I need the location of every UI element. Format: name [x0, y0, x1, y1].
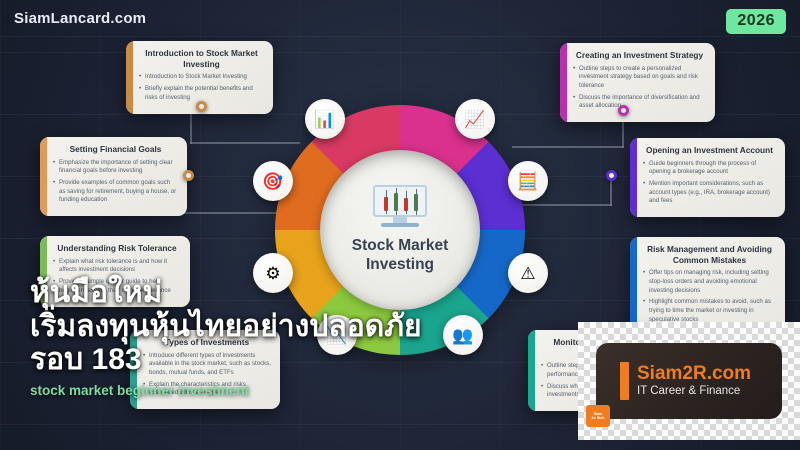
- calculator-analysis-icon: 🧮: [508, 161, 548, 201]
- logo-overlay-panel: Siam2R.com IT Career & Finance Siam2o Ri…: [578, 322, 800, 440]
- siam2r-logo-card: Siam2R.com IT Career & Finance Siam2o Ri…: [596, 343, 782, 419]
- card-accent-bar: [126, 41, 133, 114]
- card-bullet: Briefly explain the potential benefits a…: [139, 85, 264, 102]
- year-badge: 2026: [726, 9, 786, 34]
- card-bullet: Guide beginners through the process of o…: [643, 160, 776, 177]
- bar-chart-growth-icon: 📊: [305, 99, 345, 139]
- headline-line-1: หุ้นมือใหม่: [30, 276, 550, 310]
- headline-line-3: รอบ 183: [30, 343, 550, 377]
- card-bullet-list: Outline steps to create a personalized i…: [573, 65, 706, 111]
- logo-brand-name: Siam2R.com: [637, 364, 751, 384]
- card-bullet: Emphasize the importance of setting clea…: [53, 159, 178, 176]
- info-card-creating-an-investment-strategy[interactable]: Creating an Investment Strategy Outline …: [560, 43, 715, 122]
- info-card-setting-financial-goals[interactable]: Setting Financial Goals Emphasize the im…: [40, 137, 187, 216]
- card-connector-node: [618, 105, 629, 116]
- info-card-risk-management-and-avoiding-common-mistakes[interactable]: Risk Management and Avoiding Common Mist…: [630, 237, 785, 335]
- card-bullet: Outline steps to create a personalized i…: [573, 65, 706, 91]
- card-title: Creating an Investment Strategy: [573, 50, 706, 61]
- card-accent-bar: [40, 137, 47, 216]
- card-bullet-list: Introduction to Stock Market Investing B…: [139, 73, 264, 102]
- wheel-center-title: Stock MarketInvesting: [338, 237, 463, 275]
- card-accent-bar: [630, 237, 637, 335]
- site-name-watermark: SiamLancard.com: [14, 10, 146, 27]
- logo-tagline: IT Career & Finance: [637, 385, 751, 399]
- card-bullet: Highlight common mistakes to avoid, such…: [643, 298, 776, 324]
- card-connector-node: [606, 170, 617, 181]
- card-bullet-list: Offer tips on managing risk, including s…: [643, 269, 776, 324]
- connector-line: [512, 146, 624, 148]
- card-connector-node: [196, 101, 207, 112]
- line-chart-report-icon: 📈: [455, 99, 495, 139]
- card-bullet-list: Emphasize the importance of setting clea…: [53, 159, 178, 205]
- logo-orange-bar-icon: [620, 362, 629, 400]
- card-bullet: Introduction to Stock Market Investing: [139, 73, 264, 82]
- card-title: Opening an Investment Account: [643, 145, 776, 156]
- headline-line-2: เริ่มลงทุนหุ้นไทยอย่างปลอดภัย: [30, 310, 550, 344]
- card-bullet: Discuss the importance of diversificatio…: [573, 94, 706, 111]
- card-title: Understanding Risk Tolerance: [53, 243, 181, 254]
- logo-corner-chip-icon: Siam2o Rich: [586, 405, 610, 427]
- headline-overlay: หุ้นมือใหม่ เริ่มลงทุนหุ้นไทยอย่างปลอดภั…: [30, 276, 550, 398]
- monitor-candlestick-chart-icon: [369, 185, 431, 231]
- info-card-opening-an-investment-account[interactable]: Opening an Investment Account Guide begi…: [630, 138, 785, 217]
- card-title: Risk Management and Avoiding Common Mist…: [643, 244, 776, 265]
- headline-subtitle: stock market beginner investment: [30, 383, 550, 398]
- card-title: Introduction to Stock Market Investing: [139, 48, 264, 69]
- card-accent-bar: [560, 43, 567, 122]
- card-bullet: Mention important considerations, such a…: [643, 180, 776, 206]
- card-bullet-list: Guide beginners through the process of o…: [643, 160, 776, 206]
- card-bullet: Explain what risk tolerance is and how i…: [53, 258, 181, 275]
- connector-line: [178, 212, 288, 214]
- slide-canvas: SiamLancard.com 2026: [0, 0, 800, 450]
- card-connector-node: [183, 170, 194, 181]
- connector-line: [512, 204, 612, 206]
- target-goal-icon: 🎯: [253, 161, 293, 201]
- card-accent-bar: [630, 138, 637, 217]
- card-bullet: Offer tips on managing risk, including s…: [643, 269, 776, 295]
- card-title: Setting Financial Goals: [53, 144, 178, 155]
- card-bullet: Provide examples of common goals such as…: [53, 179, 178, 205]
